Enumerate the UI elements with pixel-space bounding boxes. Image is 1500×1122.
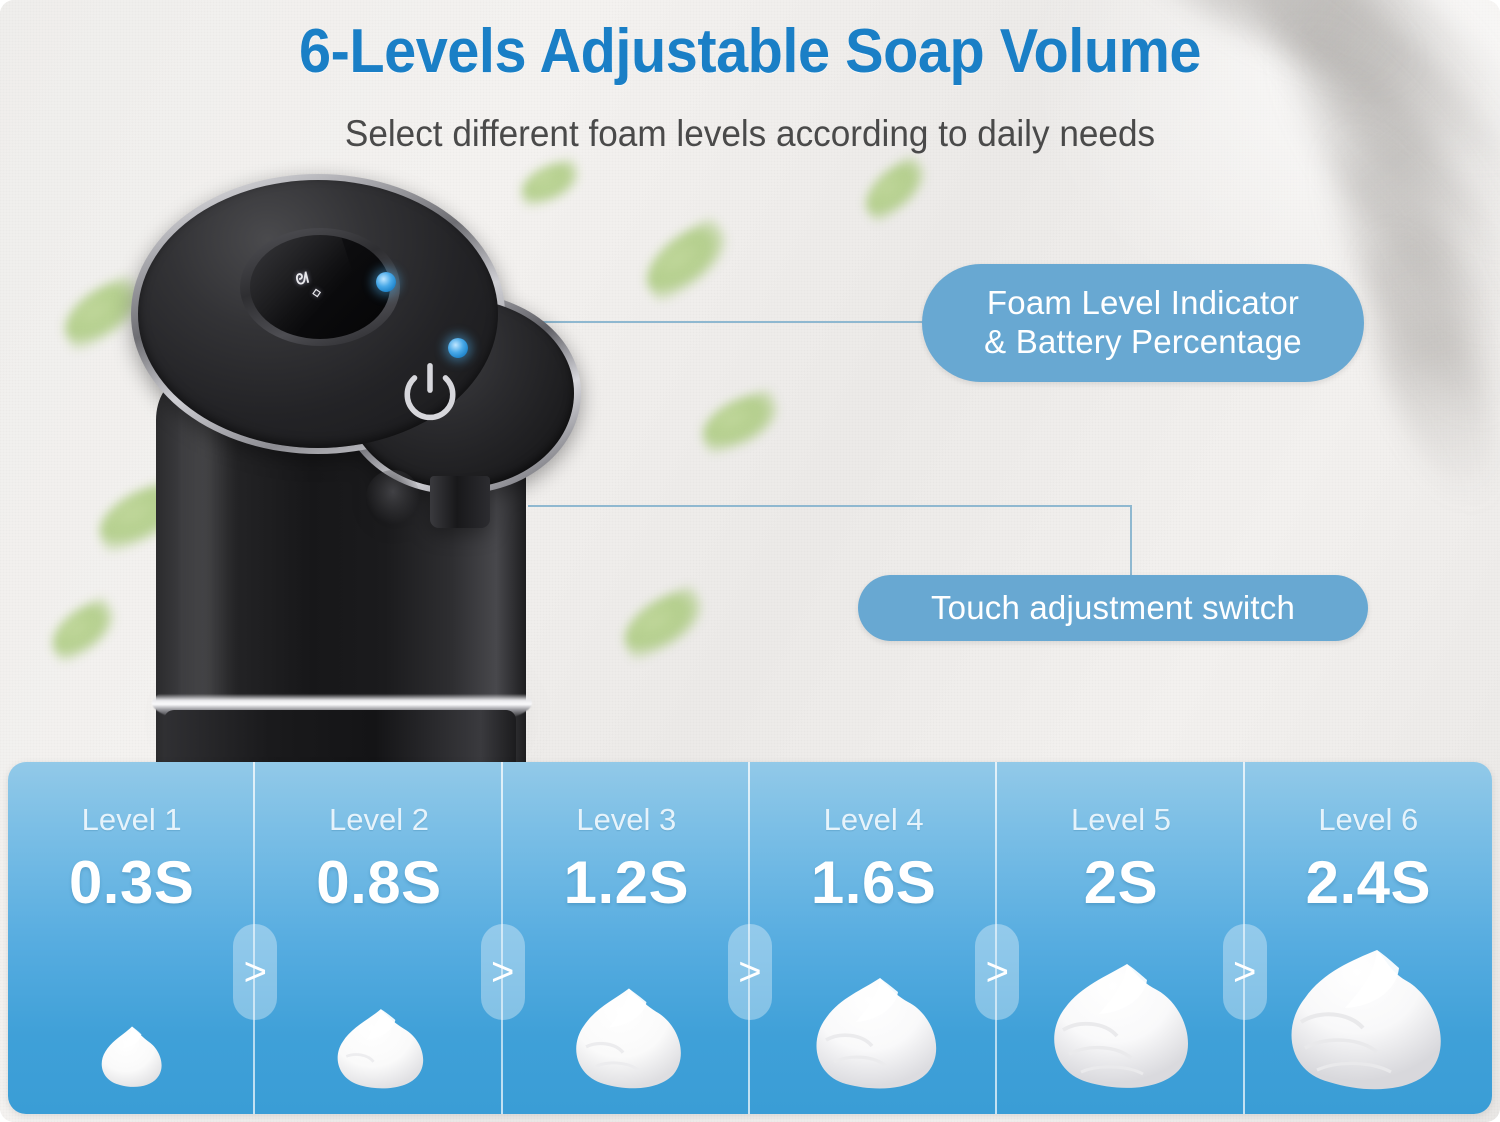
level-column[interactable]: Level 6 2.4S: [1245, 762, 1492, 1114]
power-icon[interactable]: [391, 356, 469, 434]
foam-dollop-icon: [1273, 948, 1463, 1100]
soap-dispenser-product: ᘛ ◇: [108, 170, 628, 800]
callout-badge-switch: Touch adjustment switch: [858, 575, 1368, 641]
level-label: Level 3: [576, 802, 676, 838]
nozzle-recess: [366, 470, 420, 524]
foam-dollop-icon: [794, 974, 954, 1100]
level-column[interactable]: Level 5 2S >: [997, 762, 1244, 1114]
foam-illustration: [997, 950, 1244, 1100]
level-duration: 1.6S: [811, 848, 936, 917]
foam-illustration: [8, 950, 255, 1100]
foam-illustration: [750, 950, 997, 1100]
foam-dollop-icon: [77, 1014, 187, 1100]
connector-line-switch-vertical: [1130, 505, 1132, 583]
foam-dollop-icon: [1033, 960, 1209, 1100]
infographic-canvas: 6-Levels Adjustable Soap Volume Select d…: [0, 0, 1500, 1122]
level-label: Level 2: [329, 802, 429, 838]
level-column[interactable]: Level 3 1.2S >: [503, 762, 750, 1114]
foam-illustration: [1245, 950, 1492, 1100]
level-label: Level 1: [82, 802, 182, 838]
level-column[interactable]: Level 4 1.6S >: [750, 762, 997, 1114]
callout-display-line1: Foam Level Indicator: [984, 284, 1302, 323]
callout-badge-display: Foam Level Indicator & Battery Percentag…: [922, 264, 1364, 382]
level-duration: 2.4S: [1306, 848, 1431, 917]
level-duration: 0.3S: [69, 848, 194, 917]
foam-level-display[interactable]: ᘛ ◇: [250, 235, 390, 339]
level-duration: 0.8S: [316, 848, 441, 917]
level-duration: 1.2S: [564, 848, 689, 917]
foam-illustration: [503, 950, 750, 1100]
display-led-indicator: [376, 272, 396, 292]
level-column[interactable]: Level 2 0.8S >: [255, 762, 502, 1114]
page-title: 6-Levels Adjustable Soap Volume: [53, 16, 1448, 87]
level-label: Level 4: [824, 802, 924, 838]
level-label: Level 6: [1318, 802, 1418, 838]
level-column[interactable]: Level 1 0.3S >: [8, 762, 255, 1114]
foam-illustration: [255, 950, 502, 1100]
levels-panel: Level 1 0.3S > Level 2 0.8S: [8, 762, 1492, 1114]
switch-led-indicator: [448, 338, 468, 358]
foam-dollop-icon: [553, 982, 699, 1100]
foam-nozzle: [430, 476, 490, 528]
page-subtitle: Select different foam levels according t…: [38, 113, 1463, 155]
level-label: Level 5: [1071, 802, 1171, 838]
callout-display-line2: & Battery Percentage: [984, 323, 1302, 362]
callout-switch-line1: Touch adjustment switch: [931, 589, 1295, 628]
level-duration: 2S: [1084, 848, 1158, 917]
foam-dollop-icon: [315, 1000, 443, 1100]
dispenser-top-plate: ᘛ ◇: [138, 180, 550, 480]
